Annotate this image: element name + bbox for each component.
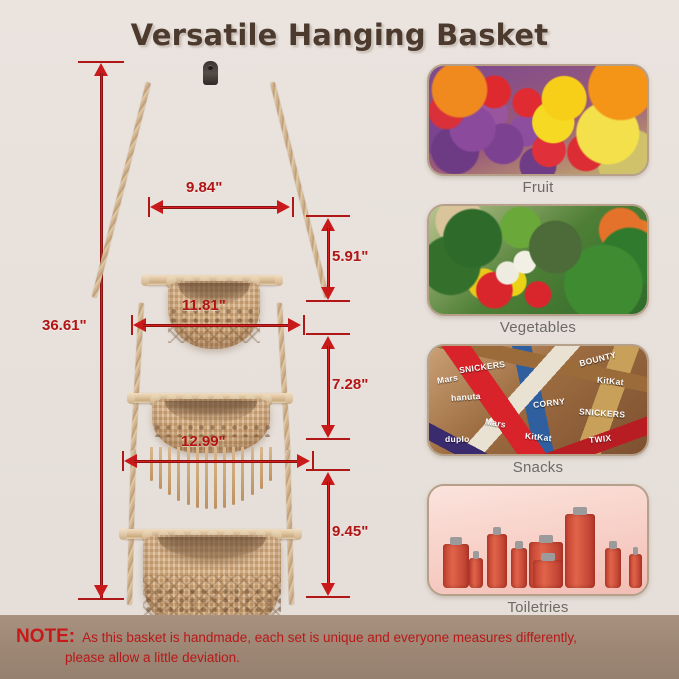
basket-mesh-top [168,325,260,343]
toiletry-bottle [605,548,621,588]
dim-line-horizontal [160,206,278,209]
dim-cap-top [306,215,350,217]
snack-brand-label: BOUNTY [578,350,617,369]
dim-arrow-right [297,454,310,468]
toiletries-photo-frame [427,484,649,596]
use-case-card-fruit[interactable]: Fruit [406,64,670,196]
note-keyword: NOTE: [16,626,75,648]
note-text-line-2: please allow a little deviation. [65,648,663,667]
toiletry-bottles [429,504,647,588]
dimension-label-basket-1-width: 9.84" [186,179,222,196]
note-line-1: NOTE: As this basket is handmade, each s… [16,626,663,648]
note-bar: NOTE: As this basket is handmade, each s… [0,615,679,679]
dim-cap-bottom [78,598,124,600]
dim-arrow-down [94,585,108,598]
snack-brand-labels: SNICKERSBOUNTYMarsKitKatCORNYhanutaSNICK… [429,346,647,454]
top-basket [168,281,260,349]
dim-cap-right [292,197,294,217]
dim-arrow-down [321,287,335,300]
dimension-label-basket-1-height: 5.91" [332,248,368,265]
use-case-label-snacks: Snacks [406,459,670,476]
vegetables-photo-frame [427,204,649,316]
use-case-card-vegetables[interactable]: Vegetables [406,204,670,336]
snack-brand-label: KitKat [597,375,625,388]
toiletry-bottle [511,548,527,588]
rope-cord-right-lower [285,450,294,605]
dim-cap-top [306,333,350,335]
dim-cap-bottom [306,438,350,440]
dim-line-horizontal [143,324,289,327]
leather-hanger-tab [203,61,218,85]
dimension-label-basket-3-width: 12.99" [181,433,226,450]
dim-cap-bottom [306,596,350,598]
toiletry-bottle [443,544,469,588]
vegetables-photo [429,206,647,314]
rope-cord-right-upper [270,82,329,298]
dim-cap-top [306,469,350,471]
dim-line-vertical [100,73,103,598]
dimension-label-overall-height: 36.61" [42,317,87,334]
note-text-line-1: As this basket is handmade, each set is … [82,628,577,647]
macrame-fringe [150,447,272,509]
snack-brand-label: hanuta [451,391,481,403]
rope-cord-left-lower [127,450,136,605]
use-case-label-toiletries: Toiletries [406,599,670,616]
use-case-card-toiletries[interactable]: Toiletries [406,484,670,616]
snack-brand-label: Mars [484,416,506,430]
dim-arrow-down [321,583,335,596]
dim-arrow-right [288,318,301,332]
use-case-label-vegetables: Vegetables [406,319,670,336]
snack-brand-label: CORNY [533,396,566,410]
use-case-label-fruit: Fruit [406,179,670,196]
dim-cap-right [312,451,314,471]
toiletry-bottle [565,514,595,588]
dim-cap-right [303,315,305,335]
dim-arrow-down [321,425,335,438]
dim-line-horizontal [134,460,298,463]
toiletry-bottle [629,554,642,588]
dimension-label-basket-2-width: 11.81" [182,297,226,314]
snack-brand-label: TWIX [589,433,612,445]
dim-line-vertical [327,346,330,428]
fruit-photo-frame [427,64,649,176]
toiletries-photo [429,486,647,594]
snacks-photo-frame: SNICKERSBOUNTYMarsKitKatCORNYhanutaSNICK… [427,344,649,456]
basket-rim-middle [165,401,257,423]
toiletry-bottle [469,558,483,588]
fruit-photo [429,66,647,174]
basket-rim-bottom [158,537,266,559]
toiletry-bottle [487,534,507,588]
snack-brand-label: SNICKERS [579,406,626,419]
snack-brand-label: KitKat [525,431,553,444]
dim-cap-bottom [306,300,350,302]
dimension-label-basket-2-height: 7.28" [332,376,368,393]
snack-brand-label: duplo [445,434,470,444]
snack-brand-label: SNICKERS [459,359,506,375]
dim-arrow-right [277,200,290,214]
dim-line-vertical [327,482,330,586]
toiletry-bottle [533,560,563,588]
infographic-page: Versatile Hanging Basket 36.61" 9.84" [0,0,679,679]
dimension-label-basket-3-height: 9.45" [332,523,368,540]
use-case-card-list: Fruit Vegetables SNICKERSBOUNTYMarsKitKa… [406,64,670,624]
use-case-card-snacks[interactable]: SNICKERSBOUNTYMarsKitKatCORNYhanutaSNICK… [406,344,670,476]
page-title: Versatile Hanging Basket [0,18,679,52]
dim-line-vertical [327,228,330,290]
snack-brand-label: Mars [436,372,458,386]
product-diagram: 36.61" 9.84" [0,55,400,610]
